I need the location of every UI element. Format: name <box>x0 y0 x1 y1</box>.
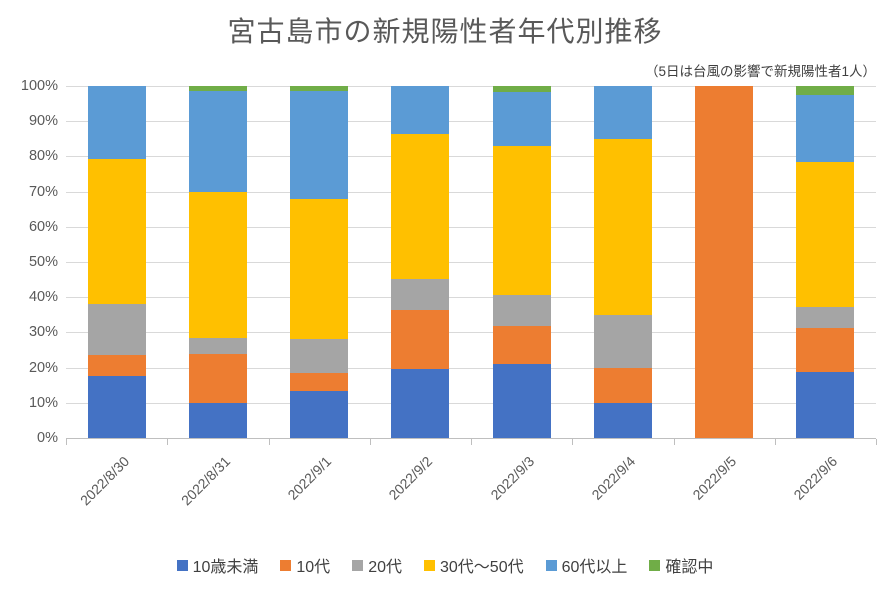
legend-item[interactable]: 30代〜50代 <box>424 553 524 577</box>
legend-item[interactable]: 60代以上 <box>546 553 628 577</box>
legend-swatch-icon <box>649 560 660 571</box>
legend-item[interactable]: 20代 <box>352 553 402 577</box>
x-tick-label: 2022/9/3 <box>462 453 537 528</box>
x-tick-label: 2022/9/1 <box>259 453 334 528</box>
bar-stack <box>493 86 551 438</box>
bar-segment[interactable] <box>493 146 551 296</box>
bar-segment[interactable] <box>391 86 449 134</box>
bar-segment[interactable] <box>493 92 551 146</box>
gridline <box>66 121 876 122</box>
plot-area <box>66 86 876 438</box>
x-tick-mark <box>775 439 776 445</box>
bar-group[interactable] <box>594 86 652 438</box>
bar-segment[interactable] <box>594 368 652 403</box>
x-tick-label: 2022/8/30 <box>57 453 132 528</box>
x-tick-mark <box>269 439 270 445</box>
x-tick-mark <box>167 439 168 445</box>
bar-segment[interactable] <box>189 403 247 438</box>
legend-item[interactable]: 確認中 <box>649 553 713 577</box>
bar-segment[interactable] <box>796 86 854 95</box>
chart-annotation: （5日は台風の影響で新規陽性者1人） <box>645 60 876 80</box>
x-axis: 2022/8/302022/8/312022/9/12022/9/22022/9… <box>66 439 876 539</box>
bar-segment[interactable] <box>88 355 146 376</box>
legend-label: 20代 <box>368 553 402 577</box>
bar-segment[interactable] <box>290 391 348 438</box>
legend-swatch-icon <box>546 560 557 571</box>
x-tick-mark <box>66 439 67 445</box>
bar-stack <box>695 86 753 438</box>
bar-segment[interactable] <box>189 91 247 191</box>
bar-segment[interactable] <box>189 192 247 338</box>
bar-segment[interactable] <box>88 86 146 159</box>
bar-segment[interactable] <box>391 134 449 279</box>
legend-swatch-icon <box>280 560 291 571</box>
y-tick-label: 30% <box>0 324 58 340</box>
y-tick-label: 70% <box>0 184 58 200</box>
bar-segment[interactable] <box>594 86 652 139</box>
gridline <box>66 297 876 298</box>
gridline <box>66 368 876 369</box>
bar-segment[interactable] <box>290 86 348 91</box>
bar-stack <box>594 86 652 438</box>
bar-segment[interactable] <box>88 304 146 356</box>
x-tick-mark <box>876 439 877 445</box>
bar-group[interactable] <box>189 86 247 438</box>
y-tick-label: 80% <box>0 148 58 164</box>
bar-group[interactable] <box>290 86 348 438</box>
x-tick-label: 2022/8/31 <box>158 453 233 528</box>
bar-segment[interactable] <box>391 279 449 310</box>
legend-swatch-icon <box>352 560 363 571</box>
legend-label: 30代〜50代 <box>440 553 524 577</box>
gridline <box>66 403 876 404</box>
bar-segment[interactable] <box>796 162 854 306</box>
bar-segment[interactable] <box>796 95 854 163</box>
bar-group[interactable] <box>796 86 854 438</box>
x-tick-label: 2022/9/2 <box>361 453 436 528</box>
gridline <box>66 86 876 87</box>
bar-segment[interactable] <box>695 86 753 438</box>
x-tick-mark <box>674 439 675 445</box>
bar-segment[interactable] <box>189 354 247 403</box>
bar-segment[interactable] <box>493 295 551 326</box>
bar-segment[interactable] <box>796 328 854 372</box>
bar-segment[interactable] <box>88 159 146 304</box>
bar-stack <box>189 86 247 438</box>
y-tick-label: 50% <box>0 254 58 270</box>
bar-stack <box>88 86 146 438</box>
bar-group[interactable] <box>695 86 753 438</box>
bar-segment[interactable] <box>189 338 247 354</box>
bar-stack <box>796 86 854 438</box>
bar-segment[interactable] <box>290 91 348 198</box>
gridline <box>66 227 876 228</box>
bar-segment[interactable] <box>391 369 449 438</box>
y-tick-label: 10% <box>0 395 58 411</box>
y-tick-label: 0% <box>0 430 58 446</box>
x-tick-label: 2022/9/6 <box>766 453 841 528</box>
bar-segment[interactable] <box>796 372 854 438</box>
bar-stack <box>290 86 348 438</box>
bar-group[interactable] <box>391 86 449 438</box>
bar-group[interactable] <box>88 86 146 438</box>
gridline <box>66 262 876 263</box>
y-tick-label: 20% <box>0 360 58 376</box>
bar-group[interactable] <box>493 86 551 438</box>
gridline <box>66 156 876 157</box>
bar-segment[interactable] <box>290 199 348 340</box>
legend-label: 10代 <box>296 553 330 577</box>
legend-item[interactable]: 10代 <box>280 553 330 577</box>
gridline <box>66 192 876 193</box>
bar-segment[interactable] <box>189 86 247 91</box>
chart-title: 宮古島市の新規陽性者年代別推移 <box>0 10 890 50</box>
bar-segment[interactable] <box>88 376 146 438</box>
y-tick-label: 90% <box>0 113 58 129</box>
x-tick-label: 2022/9/4 <box>563 453 638 528</box>
legend-item[interactable]: 10歳未満 <box>177 553 259 577</box>
bar-stack <box>391 86 449 438</box>
bar-segment[interactable] <box>493 86 551 92</box>
bar-segment[interactable] <box>796 307 854 328</box>
bar-segment[interactable] <box>594 139 652 315</box>
y-axis: 100%90%80%70%60%50%40%30%20%10%0% <box>0 86 58 438</box>
bar-segment[interactable] <box>594 315 652 368</box>
legend-label: 確認中 <box>665 553 713 577</box>
bar-segment[interactable] <box>493 364 551 438</box>
x-tick-mark <box>370 439 371 445</box>
bar-segment[interactable] <box>493 326 551 364</box>
x-tick-label: 2022/9/5 <box>664 453 739 528</box>
chart-legend: 10歳未満10代20代30代〜50代60代以上確認中 <box>0 553 890 577</box>
bar-segment[interactable] <box>290 373 348 391</box>
legend-label: 10歳未満 <box>193 553 259 577</box>
gridline <box>66 332 876 333</box>
x-tick-mark <box>572 439 573 445</box>
legend-swatch-icon <box>177 560 188 571</box>
y-tick-label: 60% <box>0 219 58 235</box>
y-tick-label: 100% <box>0 78 58 94</box>
chart-container: 宮古島市の新規陽性者年代別推移 （5日は台風の影響で新規陽性者1人） 100%9… <box>0 0 890 594</box>
bar-segment[interactable] <box>290 339 348 372</box>
x-tick-mark <box>471 439 472 445</box>
y-tick-label: 40% <box>0 289 58 305</box>
legend-swatch-icon <box>424 560 435 571</box>
bar-segment[interactable] <box>594 403 652 438</box>
bar-segment[interactable] <box>391 310 449 369</box>
legend-label: 60代以上 <box>562 553 628 577</box>
